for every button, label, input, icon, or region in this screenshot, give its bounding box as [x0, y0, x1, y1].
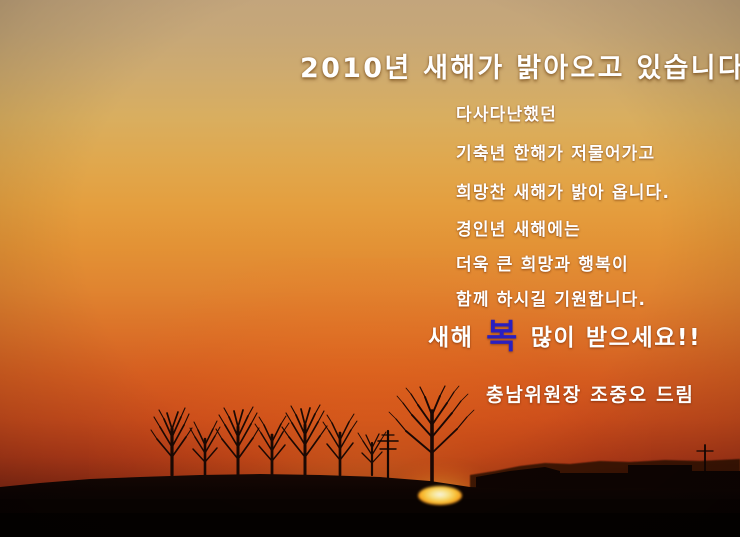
greeting-body-line-6: 함께 하시길 기원합니다.: [456, 285, 646, 310]
greeting-card: 2010년 새해가 밝아오고 있습니다 다사다난했던 기축년 한해가 저물어가고…: [0, 0, 740, 537]
greeting-wish-line: 새해 복 많이 받으세요!!: [428, 318, 701, 352]
greeting-body-line-5: 더욱 큰 희망과 행복이: [456, 250, 629, 275]
wish-prefix: 새해: [428, 325, 483, 351]
greeting-body-line-4: 경인년 새해에는: [456, 215, 581, 240]
greeting-body-line-1: 다사다난했던: [456, 100, 557, 125]
wish-suffix: 많이 받으세요!!: [521, 325, 701, 351]
central-bare-tree: [389, 386, 474, 482]
wish-highlight-bok: 복: [483, 317, 521, 357]
greeting-body-line-2: 기축년 한해가 저물어가고: [456, 139, 655, 164]
greeting-body-line-3: 희망찬 새해가 밝아 옵니다.: [456, 178, 670, 203]
bare-tree-silhouettes: [151, 405, 386, 475]
sun-disc: [418, 486, 462, 505]
greeting-title: 2010년 새해가 밝아오고 있습니다: [300, 46, 740, 85]
greeting-signature: 충남위원장 조중오 드림: [486, 380, 695, 407]
